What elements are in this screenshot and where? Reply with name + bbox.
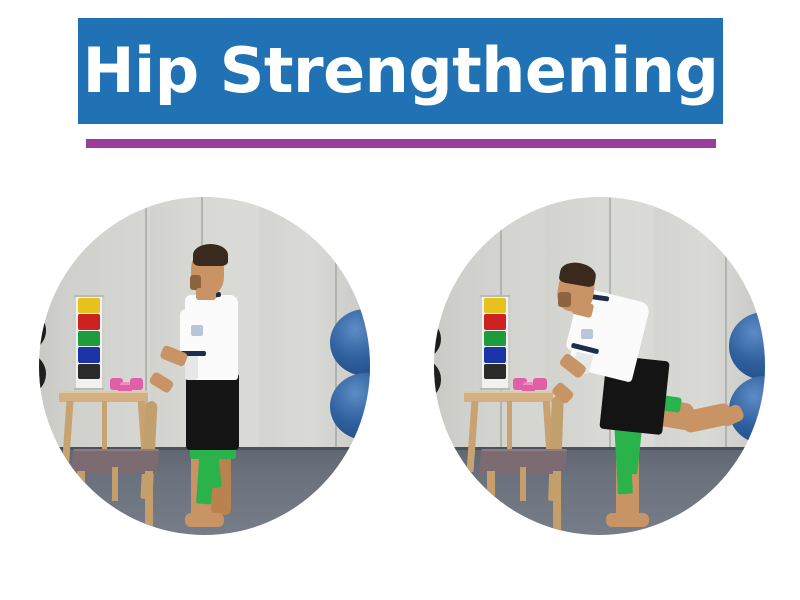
photo-scene-start [39,197,370,535]
band-roll-green-icon [78,331,100,346]
band-roll-black-icon [484,364,506,379]
band-roll-blue-icon [78,347,100,362]
title-underline-bar [86,139,716,148]
dumbbell-icon [533,378,546,390]
title-banner: Hip Strengthening [78,18,723,124]
band-roll-red-icon [78,314,100,329]
band-roll-yellow-icon [484,298,506,313]
band-roll-blue-icon [484,347,506,362]
person-neck [196,288,216,300]
chair-leg [487,471,495,528]
chair-leg [112,467,118,501]
person-beard [558,292,571,307]
dumbbell-icon [130,378,143,390]
exercise-photo-start [39,197,370,535]
exercise-photo-end [434,197,765,535]
chair-leg [520,467,526,501]
table-leg [507,401,512,452]
person-foot [185,513,225,527]
chair-leg [553,471,561,535]
person-hair [193,244,228,266]
chair-leg [77,471,85,528]
page-title: Hip Strengthening [83,40,719,102]
band-roll-green-icon [484,331,506,346]
resistance-band-rack [480,295,510,390]
chair-leg [145,471,153,535]
table-leg [102,401,107,452]
photo-scene-end [434,197,765,535]
resistance-band-rack [74,295,104,390]
band-roll-black-icon [78,364,100,379]
band-roll-red-icon [484,314,506,329]
shirt-logo-icon [581,329,593,339]
person-support-foot [606,513,649,527]
shirt-logo-icon [191,325,203,335]
band-roll-yellow-icon [78,298,100,313]
person-shorts [186,373,239,451]
